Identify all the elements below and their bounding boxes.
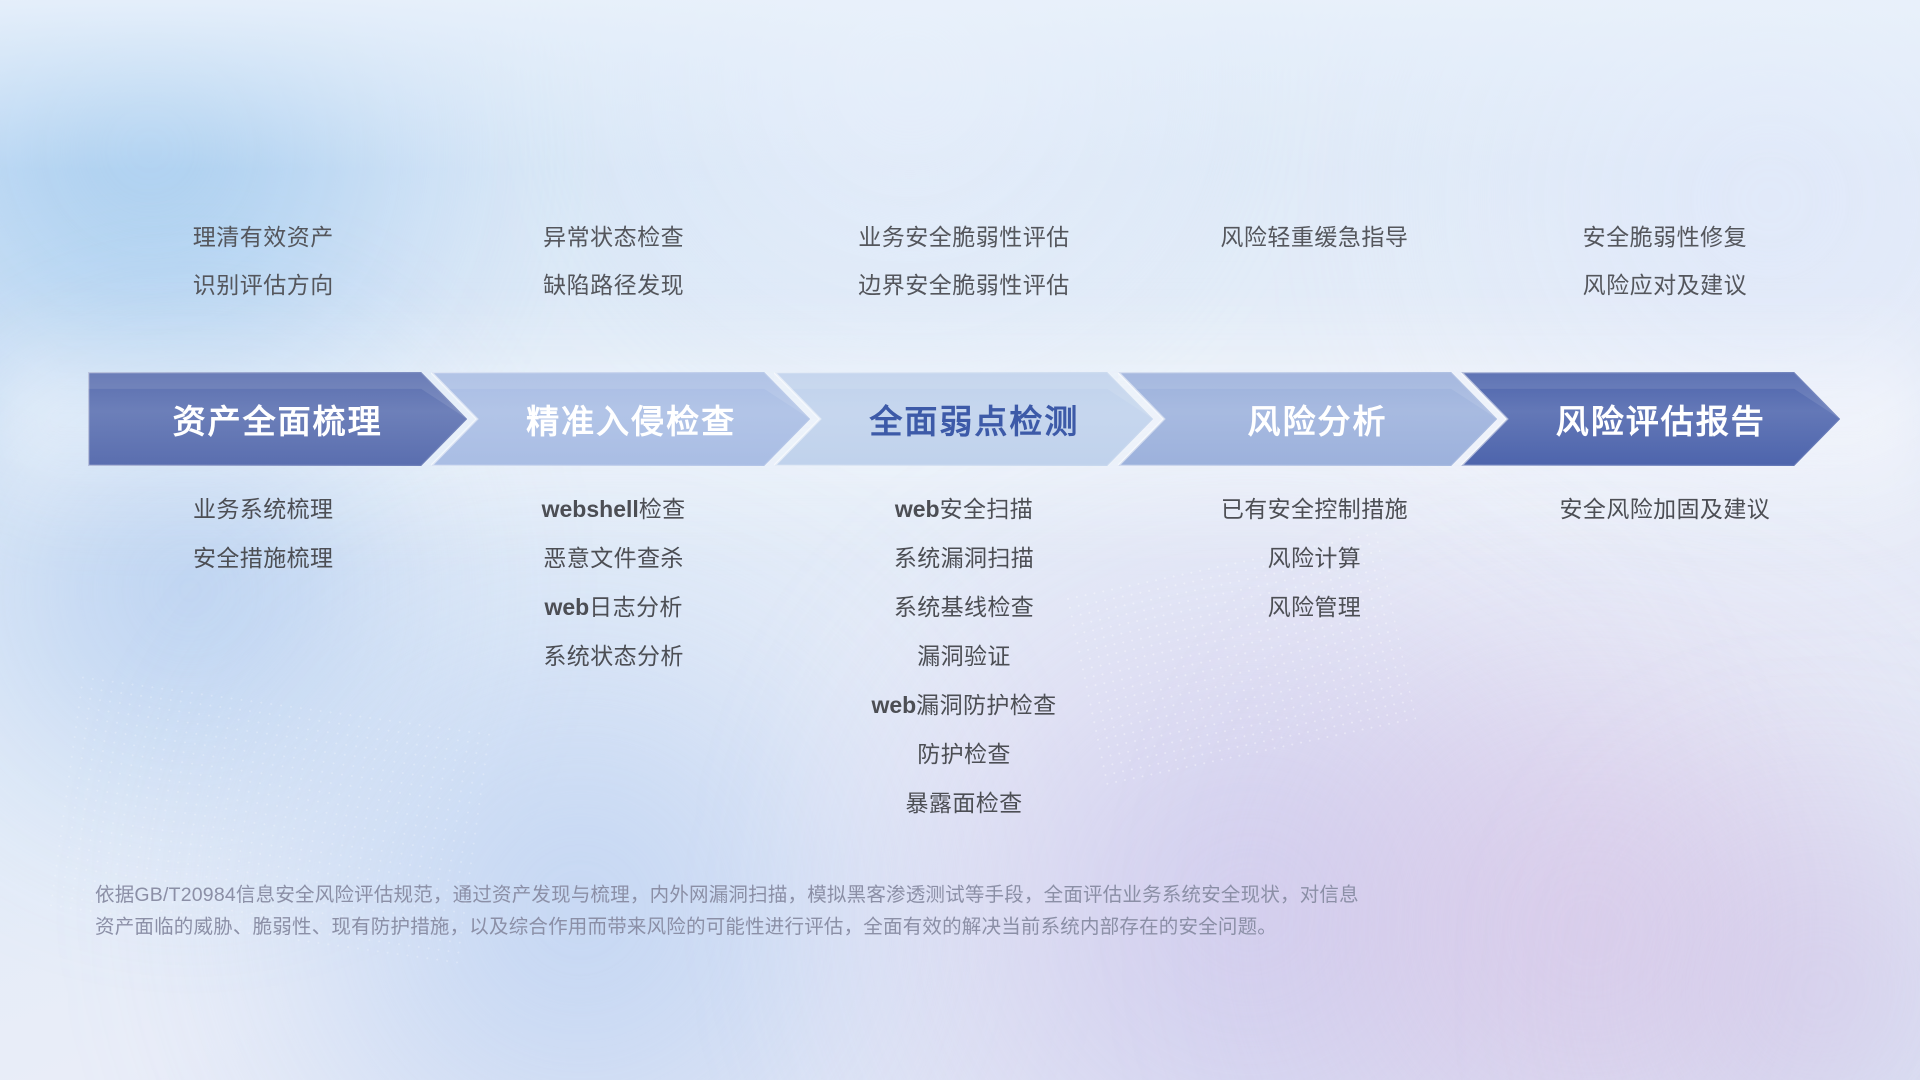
footer-description: 依据GB/T20984信息安全风险评估规范，通过资产发现与梳理，内外网漏洞扫描，… [95, 880, 1615, 943]
stage-arrow-risk-report[interactable]: 风险评估报告 [1461, 372, 1840, 466]
process-diagram: 理清有效资产识别评估方向异常状态检查缺陷路径发现业务安全脆弱性评估边界安全脆弱性… [0, 0, 1920, 1080]
stage-bottom-column-asset-inventory: 业务系统梳理安全措施梳理 [88, 498, 438, 815]
label-cjk-part: 漏洞防护检查 [916, 692, 1056, 718]
footer-line-1: 依据GB/T20984信息安全风险评估规范，通过资产发现与梳理，内外网漏洞扫描，… [95, 880, 1615, 912]
stage-top-column-intrusion-check: 异常状态检查缺陷路径发现 [438, 226, 788, 297]
stage-title: 全面弱点检测 [869, 395, 1079, 443]
stage-bottom-label: web安全扫描 [895, 498, 1033, 521]
stage-top-label: 异常状态检查 [543, 226, 684, 249]
stage-bottom-label: 业务系统梳理 [193, 498, 333, 521]
stage-bottom-label: 安全措施梳理 [193, 547, 333, 570]
stage-bottom-label: 已有安全控制措施 [1221, 498, 1408, 521]
stage-top-label: 识别评估方向 [193, 274, 334, 297]
label-latin-part: web [895, 496, 940, 522]
stage-bottom-column-intrusion-check: webshell检查恶意文件查杀web日志分析系统状态分析 [438, 498, 788, 815]
stage-bottom-label: web漏洞防护检查 [871, 694, 1056, 717]
stage-bottom-label: 防护检查 [917, 743, 1011, 766]
stage-bottom-label: 系统基线检查 [894, 596, 1034, 619]
stage-top-column-risk-report: 安全脆弱性修复风险应对及建议 [1490, 226, 1840, 297]
stage-arrow-intrusion-check[interactable]: 精准入侵检查 [431, 372, 810, 466]
stage-top-label: 边界安全脆弱性评估 [858, 274, 1070, 297]
label-cjk-part: 安全扫描 [940, 496, 1034, 522]
stage-top-column-risk-analysis: 风险轻重缓急指导 [1139, 226, 1489, 297]
label-latin-part: web [871, 692, 916, 718]
label-latin-part: webshell [542, 496, 639, 522]
stage-bottom-labels-row: 业务系统梳理安全措施梳理webshell检查恶意文件查杀web日志分析系统状态分… [88, 498, 1840, 815]
stage-arrow-weakness-detection[interactable]: 全面弱点检测 [774, 372, 1153, 466]
stage-top-label: 风险应对及建议 [1583, 274, 1748, 297]
stage-bottom-column-risk-analysis: 已有安全控制措施风险计算风险管理 [1139, 498, 1489, 815]
stage-bottom-label: webshell检查 [542, 498, 686, 521]
stage-top-label: 理清有效资产 [193, 226, 334, 249]
stage-top-label: 业务安全脆弱性评估 [858, 226, 1070, 249]
stage-bottom-column-weakness-detection: web安全扫描系统漏洞扫描系统基线检查漏洞验证web漏洞防护检查防护检查暴露面检… [789, 498, 1139, 815]
stage-bottom-label: 安全风险加固及建议 [1560, 498, 1771, 521]
stage-top-label: 风险轻重缓急指导 [1220, 226, 1408, 249]
stage-bottom-column-risk-report: 安全风险加固及建议 [1490, 498, 1840, 815]
stage-top-label: 安全脆弱性修复 [1583, 226, 1748, 249]
stage-top-column-asset-inventory: 理清有效资产识别评估方向 [88, 226, 438, 297]
footer-line-2: 资产面临的威胁、脆弱性、现有防护措施，以及综合作用而带来风险的可能性进行评估，全… [95, 912, 1615, 944]
stage-top-column-weakness-detection: 业务安全脆弱性评估边界安全脆弱性评估 [789, 226, 1139, 297]
stage-arrow-risk-analysis[interactable]: 风险分析 [1118, 372, 1497, 466]
stage-bottom-label: 风险管理 [1268, 596, 1362, 619]
stage-bottom-label: 系统状态分析 [543, 645, 683, 668]
stage-title: 风险评估报告 [1556, 395, 1766, 443]
stage-top-labels-row: 理清有效资产识别评估方向异常状态检查缺陷路径发现业务安全脆弱性评估边界安全脆弱性… [88, 226, 1840, 297]
stage-top-label: 缺陷路径发现 [543, 274, 684, 297]
stage-title: 风险分析 [1248, 395, 1388, 443]
stage-title: 资产全面梳理 [173, 395, 383, 443]
stage-bottom-label: 风险计算 [1268, 547, 1362, 570]
stage-arrow-band: 资产全面梳理精准入侵检查全面弱点检测风险分析风险评估报告 [88, 372, 1840, 466]
label-cjk-part: 日志分析 [589, 594, 683, 620]
stage-bottom-label: 暴露面检查 [906, 792, 1023, 815]
stage-bottom-label: 系统漏洞扫描 [894, 547, 1034, 570]
stage-title: 精准入侵检查 [526, 395, 736, 443]
stage-bottom-label: web日志分析 [544, 596, 682, 619]
stage-bottom-label: 恶意文件查杀 [543, 547, 683, 570]
stage-bottom-label: 漏洞验证 [917, 645, 1011, 668]
label-latin-part: web [544, 594, 589, 620]
label-cjk-part: 检查 [639, 496, 686, 522]
stage-arrow-asset-inventory[interactable]: 资产全面梳理 [88, 372, 467, 466]
